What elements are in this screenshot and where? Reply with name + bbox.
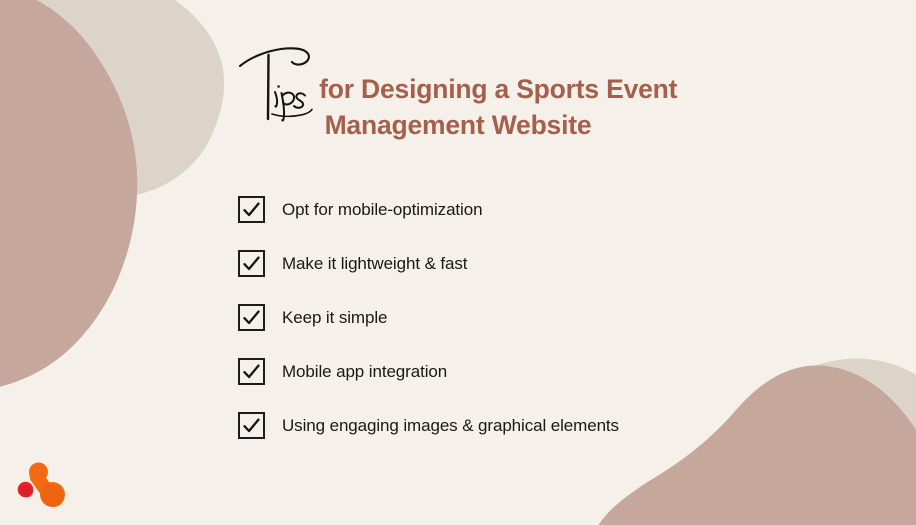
molecule-logo[interactable]	[16, 457, 76, 515]
bottom-right-beige-blob	[606, 359, 916, 525]
page-title: for Designing a Sports Event Management …	[0, 44, 916, 140]
checkbox-checked[interactable]	[238, 358, 265, 385]
list-item[interactable]: Opt for mobile-optimization	[238, 196, 619, 223]
bottom-right-rose-blob	[596, 365, 916, 525]
list-item-label: Opt for mobile-optimization	[282, 200, 482, 220]
list-item[interactable]: Mobile app integration	[238, 358, 619, 385]
title-line-1: for Designing a Sports Event	[0, 44, 916, 103]
list-item-label: Using engaging images & graphical elemen…	[282, 416, 619, 436]
title-script-word	[239, 44, 317, 124]
checkbox-checked[interactable]	[238, 412, 265, 439]
list-item[interactable]: Make it lightweight & fast	[238, 250, 619, 277]
title-line-1-text: for Designing a Sports Event	[319, 74, 677, 104]
checkbox-checked[interactable]	[238, 250, 265, 277]
checklist: Opt for mobile-optimization Make it ligh…	[238, 196, 619, 466]
list-item-label: Keep it simple	[282, 308, 387, 328]
logo-circle-top	[29, 463, 48, 482]
checkbox-checked[interactable]	[238, 196, 265, 223]
list-item[interactable]: Keep it simple	[238, 304, 619, 331]
checkbox-checked[interactable]	[238, 304, 265, 331]
list-item-label: Mobile app integration	[282, 362, 447, 382]
slide-canvas: for Designing a Sports Event Management …	[0, 0, 916, 525]
list-item-label: Make it lightweight & fast	[282, 254, 467, 274]
list-item[interactable]: Using engaging images & graphical elemen…	[238, 412, 619, 439]
title-line-2: Management Website	[0, 111, 916, 140]
